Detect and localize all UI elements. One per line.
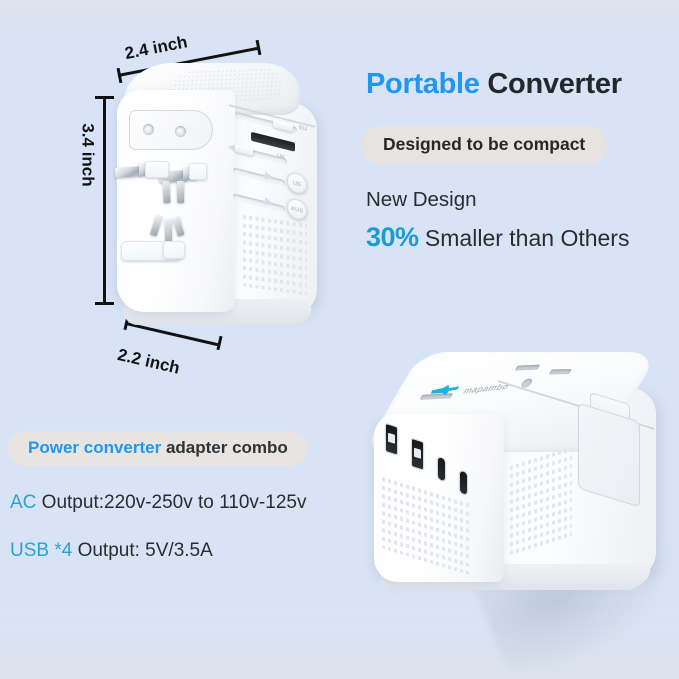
slider-shoe-lower-2 bbox=[163, 241, 185, 259]
dimension-depth-tick-right bbox=[216, 336, 222, 350]
converter-side-vent bbox=[510, 443, 572, 560]
spec-usb-output: USB *4 Output: 5V/3.5A bbox=[10, 540, 213, 562]
dimension-depth-label: 2.2 inch bbox=[116, 345, 182, 379]
badge-power-highlight: Power converter bbox=[28, 438, 161, 457]
arrow-us-icon bbox=[265, 171, 273, 181]
page-title-highlight: Portable bbox=[366, 68, 480, 100]
usb-a-port-2[interactable] bbox=[412, 439, 423, 469]
claim-percent-rest: Smaller than Others bbox=[419, 225, 630, 251]
spec-ac-output: AC Output:220v-250v to 110v-125v bbox=[10, 492, 306, 514]
usb-c-port-1[interactable] bbox=[438, 457, 445, 481]
badge-power-rest: adapter combo bbox=[161, 438, 288, 457]
us-blade-outer bbox=[115, 166, 142, 178]
slot-aus bbox=[233, 193, 285, 212]
claim-percent: 30% bbox=[366, 222, 419, 252]
ac-outlet-slot-right bbox=[549, 369, 572, 374]
usb-a-port-1[interactable] bbox=[386, 424, 397, 454]
page-title: Portable Converter bbox=[366, 68, 676, 101]
spec-usb-key: USB *4 bbox=[10, 540, 72, 561]
switch-uk[interactable] bbox=[235, 144, 253, 156]
adapter-eu-plate bbox=[129, 110, 213, 150]
ac-outlet-slot-left bbox=[515, 364, 540, 370]
product-image-travel-adapter: EU UK US AUS bbox=[117, 63, 337, 333]
usb-c-port-2[interactable] bbox=[460, 471, 467, 495]
uk-pin-a bbox=[162, 181, 170, 203]
product-infographic: 2.4 inch 3.4 inch 2.2 inch bbox=[0, 0, 679, 679]
blade-shoe-upper bbox=[145, 161, 169, 178]
eu-socket-hole-right bbox=[175, 126, 186, 137]
blade-shoe-upper-2 bbox=[189, 163, 207, 180]
dimension-height-label: 3.4 inch bbox=[78, 123, 98, 186]
eu-socket-hole-left bbox=[143, 124, 154, 135]
dimension-width-label: 2.4 inch bbox=[123, 32, 189, 64]
dimension-height-tick-bottom bbox=[95, 302, 114, 305]
spec-ac-value: Output:220v-250v to 110v-125v bbox=[36, 492, 306, 513]
spec-ac-key: AC bbox=[10, 492, 36, 513]
claim-new-design: New Design bbox=[366, 188, 477, 212]
switch-eu[interactable] bbox=[273, 119, 293, 132]
uk-pin-b bbox=[177, 181, 184, 203]
claim-smaller-than-others: 30% Smaller than Others bbox=[366, 222, 629, 253]
arrow-aus-icon bbox=[265, 197, 273, 207]
region-switch-panel: EU UK US AUS bbox=[229, 104, 315, 245]
badge-designed-compact: Designed to be compact bbox=[361, 126, 607, 164]
spec-usb-value: Output: 5V/3.5A bbox=[72, 540, 212, 561]
badge-power-converter: Power converter adapter combo bbox=[8, 431, 308, 466]
slot-us bbox=[233, 167, 285, 186]
arrow-uk-icon bbox=[228, 143, 235, 153]
dimension-height-tick-top bbox=[95, 96, 114, 99]
region-label-eu: EU bbox=[299, 125, 307, 133]
dimension-width-tick-right bbox=[256, 40, 262, 55]
dimension-height-line bbox=[103, 96, 106, 305]
slot-active-dark bbox=[251, 132, 295, 152]
page-title-rest: Converter bbox=[480, 68, 622, 100]
product-image-power-converter: mapambo bbox=[368, 352, 668, 637]
ac-outlet-ground bbox=[520, 378, 534, 387]
